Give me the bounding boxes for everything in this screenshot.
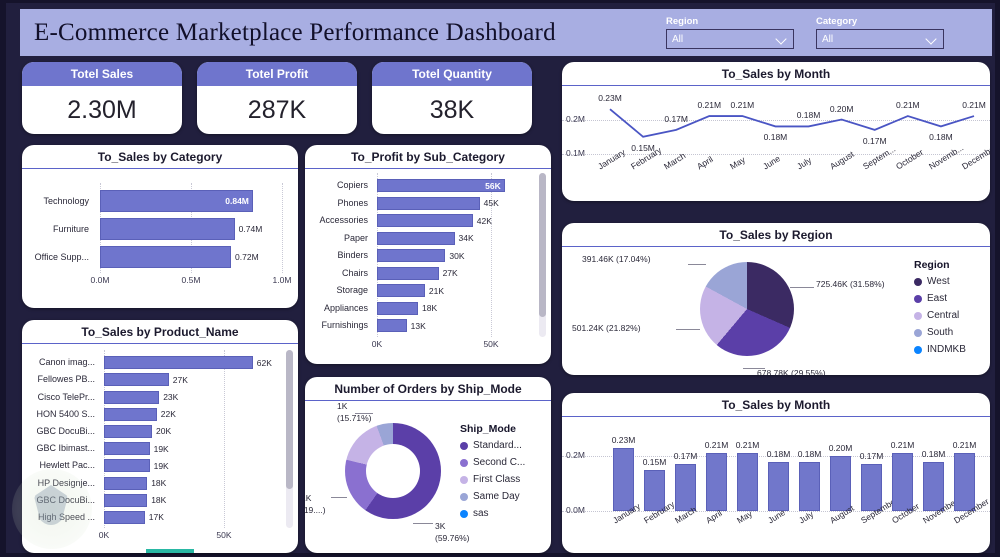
chart-title: To_Sales by Region [562,223,990,247]
bar[interactable] [799,462,820,512]
kpi-card-total-profit[interactable]: Totel Profit 287K [197,62,357,134]
bar-value-label: 18K [151,478,166,488]
bar[interactable] [892,453,913,511]
bar-category-label: GBC DocuBi... [24,495,102,505]
legend-color-dot [914,346,922,354]
chart-title: To_Sales by Month [562,393,990,417]
scrollbar-track[interactable] [539,173,546,337]
bar-value-label: 0.18M [767,449,791,459]
bar[interactable] [377,214,473,227]
bar-category-label: Fellowes PB... [24,374,102,384]
kpi-card-total-sales[interactable]: Totel Sales 2.30M [22,62,182,134]
leader-line [790,287,814,288]
chart-card-orders-by-ship-mode[interactable]: Number of Orders by Ship_Mode 3K(59.76%)… [305,377,551,553]
pie-slices[interactable] [700,262,794,356]
chart-plot-area: 725.46K (31.58%)678.78K (29.55%)501.24K … [562,247,990,373]
bottom-accent-strip [146,549,194,553]
filter-region: Region All [666,16,794,49]
chevron-down-icon [775,33,786,44]
donut-label-standard-value: 3K [435,521,445,531]
legend-label: Standard... [473,440,522,451]
legend-color-dot [460,510,468,518]
bar-value-label: 17K [149,512,164,522]
legend-color-dot [460,476,468,484]
kpi-title: Totel Profit [197,62,357,86]
filter-region-value: All [672,34,683,45]
legend-label: INDMKB [927,344,966,355]
bar-category-label: HON 5400 S... [24,409,102,419]
bar-value-label: 45K [484,198,499,208]
bar-value-label: 20K [156,426,171,436]
legend-item[interactable]: Standard... [460,440,525,451]
bar-category-label: Cisco TelePr... [24,392,102,402]
bar[interactable] [104,442,150,455]
legend-color-dot [460,493,468,501]
donut-legend: Ship_ModeStandard...Second C...First Cla… [460,423,525,525]
chart-plot-area: Copiers56KPhones45KAccessories42KPaper34… [305,169,551,362]
leader-line [688,264,706,265]
chart-card-sales-by-category[interactable]: To_Sales by Category Technology0.84MFurn… [22,145,298,308]
legend-label: Same Day [473,491,520,502]
pie-label-central: 501.24K (21.82%) [572,323,641,333]
bar-category-label: Canon imag... [24,357,102,367]
filter-category: Category All [816,16,944,49]
bar-value-label: 0.84M [225,196,249,206]
pie-legend: RegionWestEastCentralSouthINDMKB [914,259,966,361]
donut-label-standard-percent: (59.76%) [435,533,470,543]
legend-item[interactable]: Central [914,310,966,321]
chart-plot-area: 0.2M0.0M0.23MJanuary0.15MFebruary0.17MMa… [562,417,990,551]
data-point-label: 0.17M [664,114,688,124]
scrollbar-thumb[interactable] [539,173,546,317]
donut-label-first-class-percent: (15.71%) [337,413,372,423]
bar-value-label: 0.74M [239,224,263,234]
bar[interactable] [104,511,145,524]
bar-value-label: 0.72M [235,252,259,262]
bar[interactable] [377,232,455,245]
bar-category-label: Copiers [307,180,375,190]
bar-value-label: 34K [459,233,474,243]
bar[interactable] [104,391,159,404]
legend-label: East [927,293,947,304]
legend-color-dot [914,312,922,320]
legend-label: First Class [473,474,520,485]
bar-value-label: 56K [485,181,501,191]
bar-value-label: 0.21M [736,440,760,450]
bar-value-label: 0.18M [798,449,822,459]
bar-category-label: GBC DocuBi... [24,426,102,436]
bar-value-label: 27K [173,375,188,385]
x-axis-tick: 50K [483,339,498,349]
bar-category-label: GBC Ibimast... [24,443,102,453]
bar[interactable] [737,453,758,511]
data-point-label: 0.18M [797,110,821,120]
bar[interactable] [830,456,851,511]
chart-card-sales-by-month-bar[interactable]: To_Sales by Month 0.2M0.0M0.23MJanuary0.… [562,393,990,553]
bar-category-label: Furnishings [307,320,375,330]
scrollbar-thumb[interactable] [286,350,293,489]
filter-region-select[interactable]: All [666,29,794,49]
dashboard-canvas: E-Commerce Marketplace Performance Dashb… [0,0,1000,557]
bar-value-label: 18K [151,495,166,505]
bar-value-label: 0.20M [829,443,853,453]
legend-label: Second C... [473,457,525,468]
bar-category-label: High Speed ... [24,512,102,522]
bar-category-label: HP Designje... [24,478,102,488]
chart-title: To_Sales by Product_Name [22,320,298,344]
bar-value-label: 0.21M [705,440,729,450]
legend-item[interactable]: Same Day [460,491,525,502]
chart-card-sales-by-product-name[interactable]: To_Sales by Product_Name Canon imag...62… [22,320,298,553]
legend-color-dot [914,295,922,303]
x-axis-tick: 0K [372,339,382,349]
chart-card-profit-by-sub-category[interactable]: To_Profit by Sub_Category Copiers56KPhon… [305,145,551,364]
dashboard-header: E-Commerce Marketplace Performance Dashb… [20,9,992,56]
legend-title: Region [914,259,966,271]
bar[interactable] [104,459,150,472]
x-axis-tick: 0.0M [91,275,110,285]
bar[interactable] [104,408,157,421]
pie-label-south: 391.46K (17.04%) [582,254,651,264]
bar[interactable] [100,218,235,240]
data-point-label: 0.18M [929,132,953,142]
bar-category-label: Chairs [307,268,375,278]
bar-value-label: 0.21M [891,440,915,450]
bar[interactable] [104,477,147,490]
scrollbar-track[interactable] [286,350,293,528]
leader-line [676,329,700,330]
legend-item[interactable]: West [914,276,966,287]
pie-label-east: 678.78K (29.55%) [757,368,826,375]
legend-label: sas [473,508,489,519]
bar[interactable] [377,267,439,280]
bar-value-label: 0.17M [860,451,884,461]
bar[interactable] [613,448,634,511]
bar[interactable] [377,302,418,315]
kpi-title: Totel Quantity [372,62,532,86]
x-axis-tick: 0K [99,530,109,540]
bar[interactable] [706,453,727,511]
data-point-label: 0.17M [863,136,887,146]
chart-plot-area: 3K(59.76%)1K(19....)1K(15.71%)Ship_ModeS… [305,401,551,551]
x-axis-tick: 1.0M [273,275,292,285]
bar-value-label: 23K [163,392,178,402]
bar-category-label: Accessories [307,215,375,225]
data-point-label: 0.21M [731,100,755,110]
legend-item[interactable]: Second C... [460,457,525,468]
x-axis-tick: 0.5M [182,275,201,285]
bar-value-label: 19K [154,461,169,471]
bar-value-label: 27K [443,268,458,278]
bar-category-label: Phones [307,198,375,208]
leader-line [331,497,347,498]
donut-label-first-class-value: 1K [337,401,347,411]
bar-category-label: Storage [307,285,375,295]
bar[interactable] [377,284,425,297]
filter-category-label: Category [816,16,944,27]
kpi-value: 287K [197,86,357,134]
legend-color-dot [914,278,922,286]
bar[interactable] [104,494,147,507]
data-point-label: 0.18M [764,132,788,142]
bar[interactable] [104,356,253,369]
legend-color-dot [914,329,922,337]
chart-title: To_Profit by Sub_Category [305,145,551,169]
gridline [282,183,283,273]
bar[interactable] [104,425,152,438]
filter-region-label: Region [666,16,794,27]
chevron-down-icon [925,33,936,44]
filter-category-select[interactable]: All [816,29,944,49]
bar-value-label: 30K [449,251,464,261]
data-point-label: 0.21M [697,100,721,110]
donut-label-second-class-value: 1K [305,493,311,503]
bar-value-label: 21K [429,286,444,296]
bar-category-label: Technology [24,196,96,206]
leader-line [413,523,433,524]
filter-bar: Region All Category All [666,16,992,49]
data-point-label: 0.21M [896,100,920,110]
bar[interactable] [954,453,975,511]
kpi-card-total-quantity[interactable]: Totel Quantity 38K [372,62,532,134]
legend-item[interactable]: First Class [460,474,525,485]
chart-plot-area: Technology0.84MFurniture0.74MOffice Supp… [22,169,298,306]
bar-value-label: 0.18M [922,449,946,459]
bar[interactable] [377,197,480,210]
gridline [224,350,225,528]
legend-title: Ship_Mode [460,423,525,435]
bar-category-label: Hewlett Pac... [24,460,102,470]
chart-card-sales-by-region[interactable]: To_Sales by Region 725.46K (31.58%)678.7… [562,223,990,375]
bar-category-label: Paper [307,233,375,243]
bar-value-label: 42K [477,216,492,226]
bar-value-label: 13K [411,321,426,331]
y-axis-tick: 0.0M [566,505,585,515]
kpi-value: 38K [372,86,532,134]
bar-value-label: 0.15M [643,457,667,467]
donut-hole [366,444,420,498]
bar-value-label: 19K [154,444,169,454]
data-point-label: 0.23M [598,93,622,103]
chart-plot-area: Canon imag...62KFellowes PB...27KCisco T… [22,344,298,551]
chart-card-sales-by-month-line[interactable]: To_Sales by Month 0.2M0.1M0.23M0.15M0.17… [562,62,990,201]
kpi-title: Totel Sales [22,62,182,86]
legend-item[interactable]: INDMKB [914,344,966,355]
x-axis-tick: 50K [216,530,231,540]
data-point-label: 0.20M [830,104,854,114]
kpi-value: 2.30M [22,86,182,134]
bar-value-label: 18K [422,303,437,313]
legend-label: South [927,327,953,338]
bar-value-label: 0.17M [674,451,698,461]
bar-category-label: Office Supp... [24,252,96,262]
pie-label-west: 725.46K (31.58%) [816,279,885,289]
filter-category-value: All [822,34,833,45]
bar-value-label: 0.21M [953,440,977,450]
chart-title: To_Sales by Month [562,62,990,86]
leader-line [743,368,765,369]
line-series [562,86,990,199]
bar-value-label: 22K [161,409,176,419]
legend-item[interactable]: sas [460,508,525,519]
legend-color-dot [460,442,468,450]
bar-value-label: 62K [257,358,272,368]
bar[interactable] [100,246,231,268]
y-axis-tick: 0.2M [566,450,585,460]
data-point-label: 0.21M [962,100,986,110]
bar-category-label: Appliances [307,303,375,313]
donut-label-second-class-percent: (19....) [305,505,326,515]
chart-title: To_Sales by Category [22,145,298,169]
page-title: E-Commerce Marketplace Performance Dashb… [34,19,556,47]
legend-label: Central [927,310,959,321]
leader-line [355,413,373,414]
bar[interactable] [104,373,169,386]
chart-plot-area: 0.2M0.1M0.23M0.15M0.17M0.21M0.21M0.18M0.… [562,86,990,199]
chart-title: Number of Orders by Ship_Mode [305,377,551,401]
legend-item[interactable]: South [914,327,966,338]
bar[interactable] [768,462,789,512]
legend-item[interactable]: East [914,293,966,304]
bar-category-label: Furniture [24,224,96,234]
legend-color-dot [460,459,468,467]
bar[interactable] [377,249,445,262]
bar[interactable] [377,319,407,332]
bar-category-label: Binders [307,250,375,260]
bar-value-label: 0.23M [612,435,636,445]
legend-label: West [927,276,950,287]
